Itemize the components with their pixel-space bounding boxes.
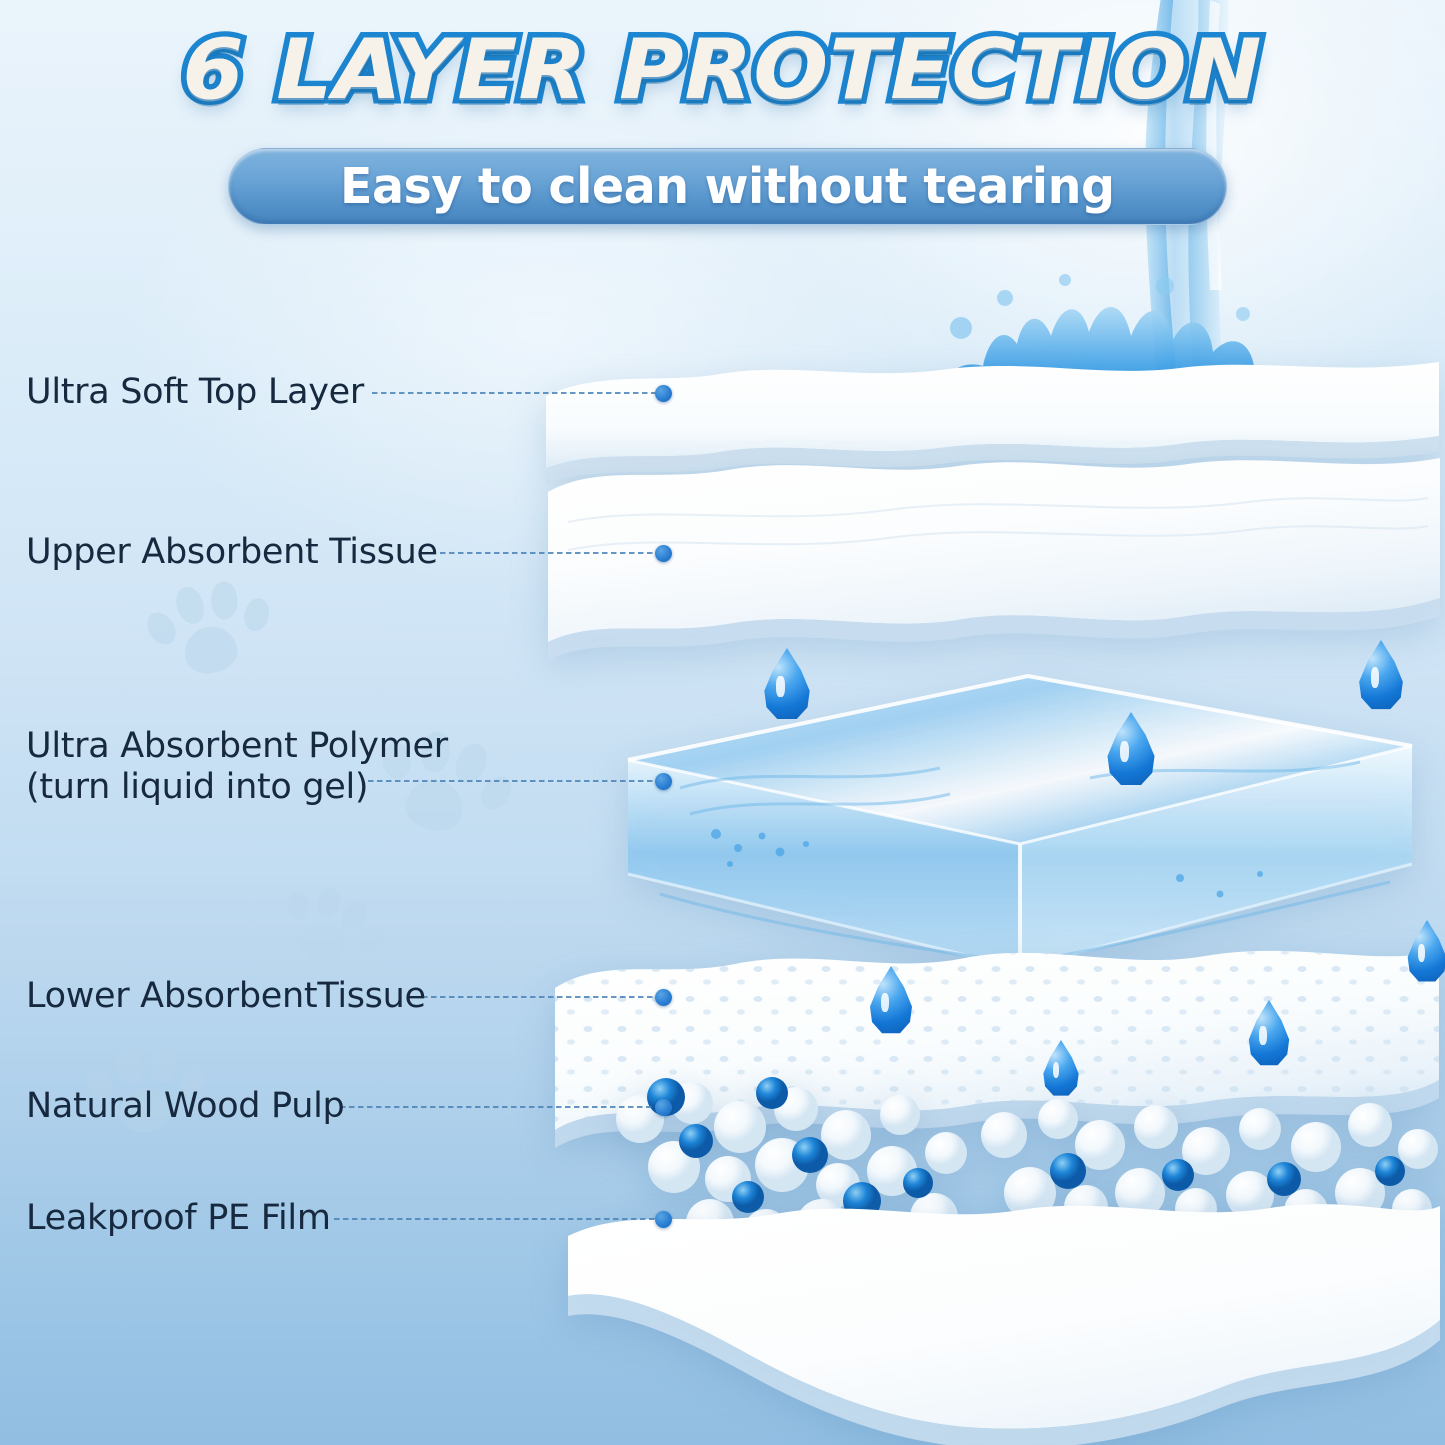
page-title-overlay: 6 LAYER PROTECTION — [182, 28, 1262, 111]
leader-line-2 — [440, 552, 658, 554]
layer-label-5: Natural Wood Pulp — [26, 1086, 344, 1127]
subtitle-banner: Easy to clean without tearing — [228, 148, 1227, 225]
infographic-canvas: Ultra Soft Top Layer Upper Absorbent Tis… — [0, 0, 1445, 1445]
layer-label-2: Upper Absorbent Tissue — [26, 532, 438, 573]
leader-dot-1 — [655, 385, 672, 402]
leader-line-6 — [334, 1218, 658, 1220]
leader-dot-6 — [655, 1211, 672, 1228]
leader-dot-5 — [655, 1099, 672, 1116]
layer-label-3-line2: (turn liquid into gel) — [26, 767, 448, 808]
leader-dot-2 — [655, 545, 672, 562]
subtitle-text: Easy to clean without tearing — [340, 158, 1115, 215]
leader-line-1 — [372, 392, 658, 394]
layer-label-6: Leakproof PE Film — [26, 1198, 331, 1239]
header-title-wrap: 6 LAYER PROTECTION 6 LAYER PROTECTION — [0, 28, 1445, 111]
layer-label-3: Ultra Absorbent Polymer (turn liquid int… — [26, 726, 448, 809]
leader-dot-4 — [655, 989, 672, 1006]
leader-line-5 — [340, 1106, 658, 1108]
layer-label-4: Lower AbsorbentTissue — [26, 976, 426, 1017]
leader-dot-3 — [655, 773, 672, 790]
leader-line-4 — [422, 996, 658, 998]
layer-label-1: Ultra Soft Top Layer — [26, 372, 364, 413]
layer-label-3-line1: Ultra Absorbent Polymer — [26, 726, 448, 767]
layer-leakproof-pe-film — [560, 1200, 1445, 1445]
